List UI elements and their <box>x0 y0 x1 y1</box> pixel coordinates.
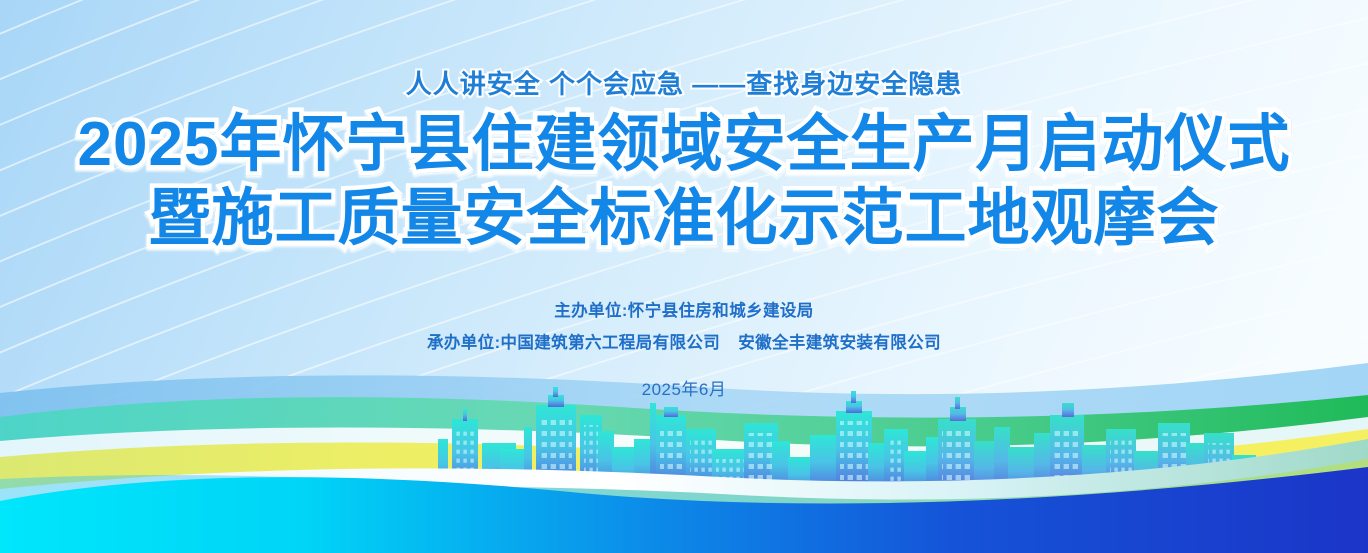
bottom-wave-ribbons <box>0 433 1368 553</box>
co-organizer-secondary: 安徽全丰建筑安装有限公司 <box>738 334 941 352</box>
event-date: 2025年6月 <box>0 375 1368 400</box>
page-title-line-1: 2025年怀宁县住建领域安全生产月启动仪式 <box>0 113 1368 177</box>
co-organizer-primary: 承办单位:中国建筑第六工程局有限公司 <box>427 334 720 352</box>
organizer-block: 主办单位:怀宁县住房和城乡建设局 承办单位:中国建筑第六工程局有限公司安徽全丰建… <box>0 295 1368 400</box>
page-title-line-2: 暨施工质量安全标准化示范工地观摩会 <box>0 187 1368 251</box>
poster-canvas: 人人讲安全 个个会应急 ——查找身边安全隐患 2025年怀宁县住建领域安全生产月… <box>0 0 1368 553</box>
co-organizer-line: 承办单位:中国建筑第六工程局有限公司安徽全丰建筑安装有限公司 <box>0 327 1368 359</box>
poster-text-block: 人人讲安全 个个会应急 ——查找身边安全隐患 2025年怀宁县住建领域安全生产月… <box>0 0 1368 400</box>
host-organization-line: 主办单位:怀宁县住房和城乡建设局 <box>0 295 1368 327</box>
slogan-line: 人人讲安全 个个会应急 ——查找身边安全隐患 <box>0 64 1368 101</box>
